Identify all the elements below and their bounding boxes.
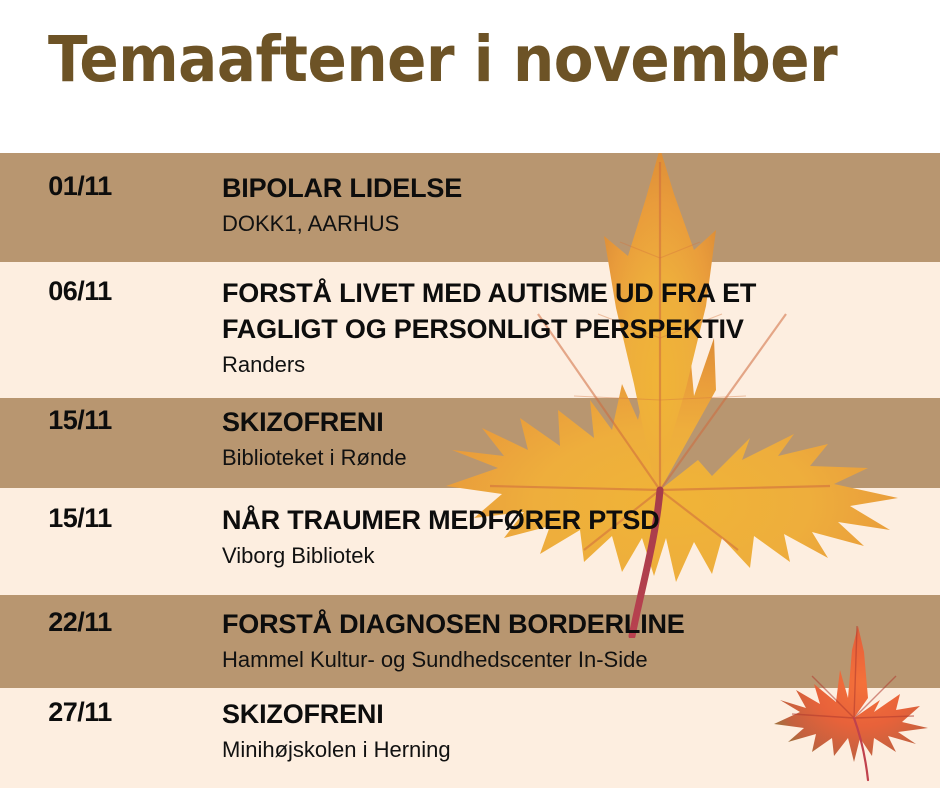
event-venue: Minihøjskolen i Herning xyxy=(222,735,940,765)
event-heading: NÅR TRAUMER MEDFØRER PTSD xyxy=(222,503,940,539)
event-heading: FORSTÅ LIVET MED AUTISME UD FRA ET FAGLI… xyxy=(222,276,940,348)
page-title: Temaaftener i november xyxy=(48,26,837,94)
event-details: NÅR TRAUMER MEDFØRER PTSDViborg Bibliote… xyxy=(160,503,940,571)
event-heading: BIPOLAR LIDELSE xyxy=(222,171,940,207)
event-row[interactable]: 01/11BIPOLAR LIDELSEDOKK1, AARHUS xyxy=(0,171,940,239)
event-heading: SKIZOFRENI xyxy=(222,405,940,441)
event-row[interactable]: 06/11FORSTÅ LIVET MED AUTISME UD FRA ET … xyxy=(0,276,940,380)
title-banner: Temaaftener i november xyxy=(0,0,940,153)
event-details: SKIZOFRENIMinihøjskolen i Herning xyxy=(160,697,940,765)
event-details: FORSTÅ DIAGNOSEN BORDERLINEHammel Kultur… xyxy=(160,607,940,675)
event-details: BIPOLAR LIDELSEDOKK1, AARHUS xyxy=(160,171,940,239)
event-venue: Viborg Bibliotek xyxy=(222,541,940,571)
event-row[interactable]: 22/11FORSTÅ DIAGNOSEN BORDERLINEHammel K… xyxy=(0,607,940,675)
event-venue: DOKK1, AARHUS xyxy=(222,209,940,239)
event-venue: Hammel Kultur- og Sundhedscenter In-Side xyxy=(222,645,940,675)
event-heading: FORSTÅ DIAGNOSEN BORDERLINE xyxy=(222,607,940,643)
event-row[interactable]: 15/11NÅR TRAUMER MEDFØRER PTSDViborg Bib… xyxy=(0,503,940,571)
event-heading: SKIZOFRENI xyxy=(222,697,940,733)
event-details: SKIZOFRENIBiblioteket i Rønde xyxy=(160,405,940,473)
event-date: 27/11 xyxy=(0,697,160,728)
event-date: 15/11 xyxy=(0,405,160,436)
event-venue: Randers xyxy=(222,350,940,380)
event-details: FORSTÅ LIVET MED AUTISME UD FRA ET FAGLI… xyxy=(160,276,940,380)
event-date: 15/11 xyxy=(0,503,160,534)
poster-canvas: Temaaftener i november 01/11BIPOLAR LIDE… xyxy=(0,0,940,788)
event-row[interactable]: 27/11SKIZOFRENIMinihøjskolen i Herning xyxy=(0,697,940,765)
event-venue: Biblioteket i Rønde xyxy=(222,443,940,473)
event-date: 01/11 xyxy=(0,171,160,202)
event-row[interactable]: 15/11SKIZOFRENIBiblioteket i Rønde xyxy=(0,405,940,473)
event-date: 06/11 xyxy=(0,276,160,307)
event-date: 22/11 xyxy=(0,607,160,638)
